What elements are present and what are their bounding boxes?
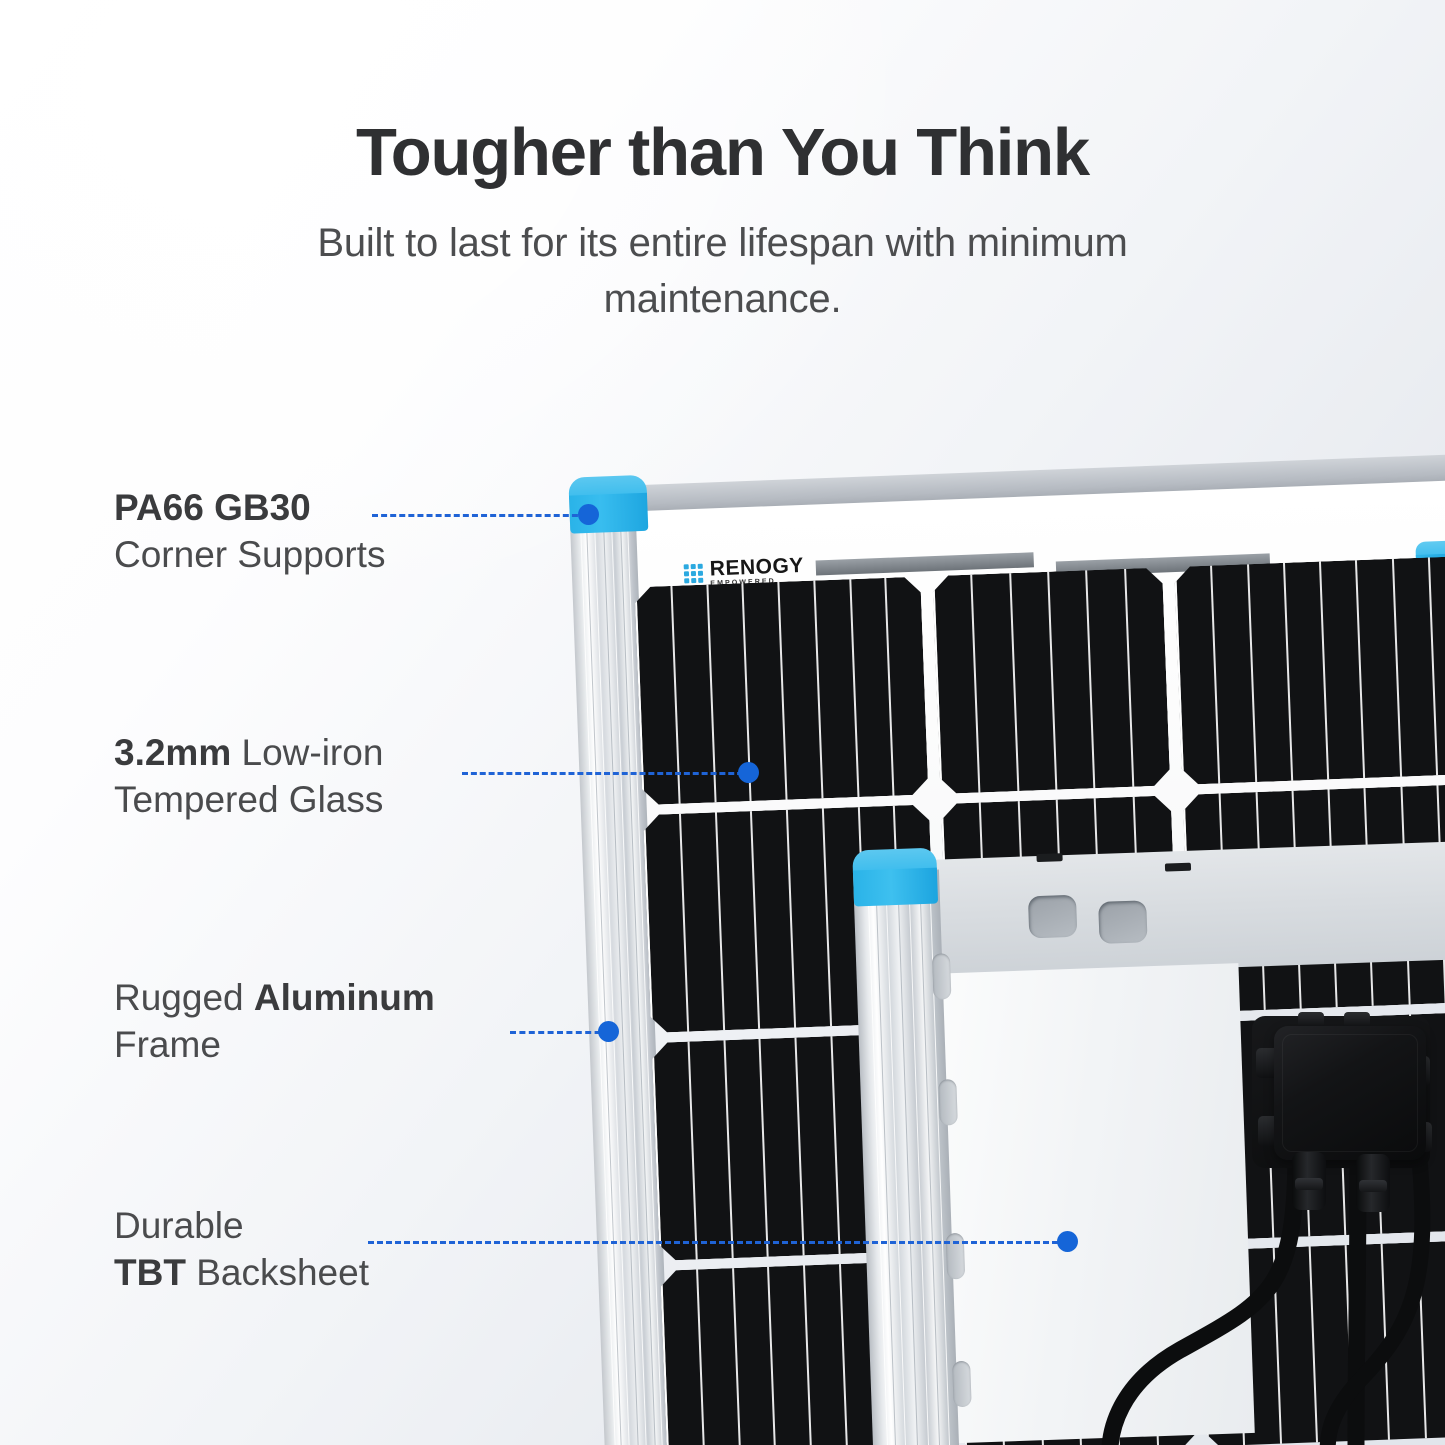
leader-dot-tbt-backsheet (1057, 1231, 1078, 1252)
junction-box-lid (1274, 1026, 1426, 1160)
callout-tempered-glass: 3.2mm Low-iron Tempered Glass (114, 730, 383, 823)
callout-frame-pre: Rugged (114, 977, 254, 1018)
junction-box-tab (1344, 1012, 1370, 1026)
cable-gland (1356, 1154, 1390, 1212)
callout-glass-bold: 3.2mm (114, 732, 231, 773)
leader-line-tbt-backsheet (368, 1241, 1076, 1244)
leader-dot-corner-supports (578, 504, 599, 525)
leader-line-corner-supports (372, 514, 587, 517)
callout-back-pre: Durable (114, 1203, 369, 1250)
callout-corner-bold: PA66 GB30 (114, 487, 311, 528)
cable-gland (1292, 1152, 1326, 1210)
callout-back-rest: Backsheet (186, 1252, 369, 1293)
callout-frame-text: Frame (114, 1022, 435, 1069)
callout-corner-text: Corner Supports (114, 532, 385, 579)
leader-dot-tempered-glass (738, 762, 759, 783)
leader-line-aluminum-frame (510, 1031, 610, 1034)
callout-back-bold: TBT (114, 1252, 186, 1293)
callout-glass-text: Tempered Glass (114, 777, 383, 824)
junction-box-tab (1298, 1012, 1324, 1026)
infographic-canvas: Tougher than You Think Built to last for… (0, 0, 1445, 1445)
callout-frame-bold: Aluminum (254, 977, 435, 1018)
junction-box (1252, 1012, 1438, 1180)
leader-line-tempered-glass (462, 772, 752, 775)
callout-corner-supports: PA66 GB30 Corner Supports (114, 485, 385, 578)
leader-dot-aluminum-frame (598, 1021, 619, 1042)
callout-tbt-backsheet: Durable TBT Backsheet (114, 1203, 369, 1296)
callout-aluminum-frame: Rugged Aluminum Frame (114, 975, 435, 1068)
callout-glass-rest: Low-iron (231, 732, 383, 773)
